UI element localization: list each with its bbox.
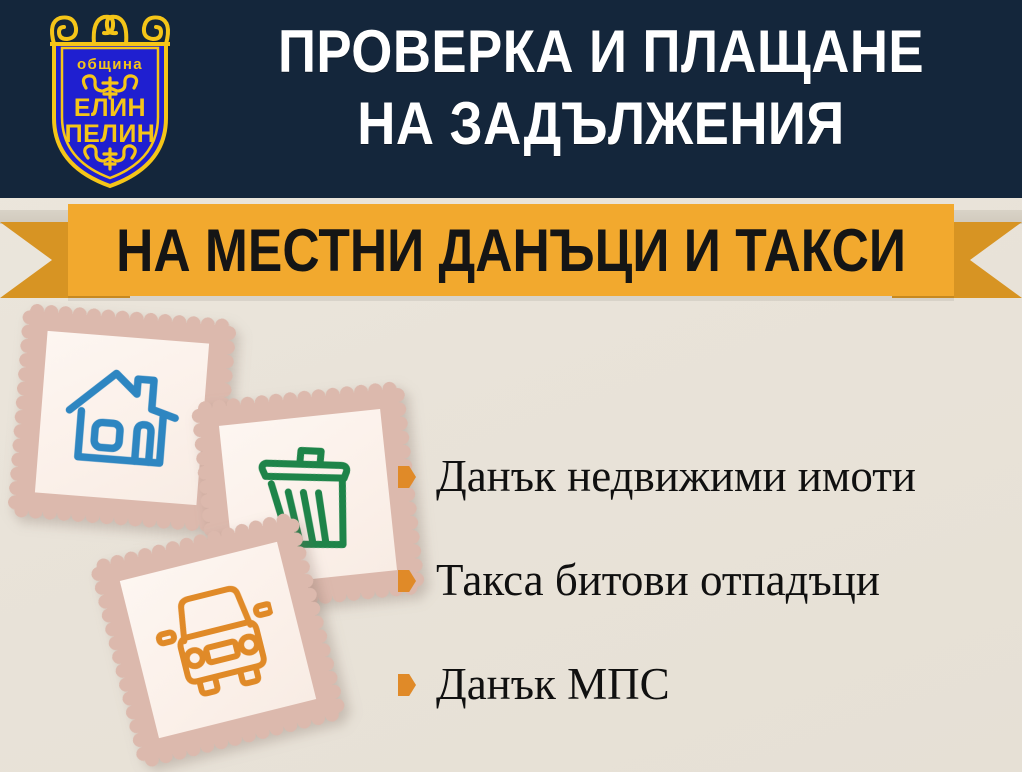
logo-name-line1: ЕЛИН <box>74 94 146 122</box>
page-title-line-1: ПРОВЕРКА И ПЛАЩАНЕ <box>239 16 962 88</box>
list-item-label: Такса битови отпадъци <box>436 558 880 603</box>
logo-top-text: община <box>77 56 143 73</box>
house-icon <box>59 358 185 479</box>
list-item-label: Данък недвижими имоти <box>436 454 916 499</box>
ribbon-banner: НА МЕСТНИ ДАНЪЦИ И ТАКСИ <box>0 198 1022 310</box>
list-item[interactable]: Данък МПС <box>398 632 1008 736</box>
arrow-bullet-icon <box>398 674 416 696</box>
municipality-logo: община ЕЛИН ПЕЛИН <box>34 6 186 191</box>
page-title: ПРОВЕРКА И ПЛАЩАНЕ НА ЗАДЪЛЖЕНИЯ <box>239 16 962 160</box>
tax-type-list: Данък недвижими имоти Такса битови отпад… <box>398 424 1008 736</box>
stamp-card-vehicle-tax <box>97 519 339 761</box>
list-item-label: Данък МПС <box>436 662 670 707</box>
arrow-bullet-icon <box>398 466 416 488</box>
stamp-paper <box>35 331 209 505</box>
header-bar: община ЕЛИН ПЕЛИН <box>0 0 1022 198</box>
ribbon-label: НА МЕСТНИ ДАНЪЦИ И ТАКСИ <box>130 204 892 296</box>
arrow-bullet-icon <box>398 570 416 592</box>
logo-name-line2: ПЕЛИН <box>65 120 156 148</box>
car-front-icon <box>146 572 289 708</box>
poster-root: община ЕЛИН ПЕЛИН <box>0 0 1022 772</box>
list-item[interactable]: Такса битови отпадъци <box>398 528 1008 632</box>
coat-of-arms-icon: община ЕЛИН ПЕЛИН <box>34 6 186 191</box>
page-title-line-2: НА ЗАДЪЛЖЕНИЯ <box>239 88 962 160</box>
list-item[interactable]: Данък недвижими имоти <box>398 424 1008 528</box>
